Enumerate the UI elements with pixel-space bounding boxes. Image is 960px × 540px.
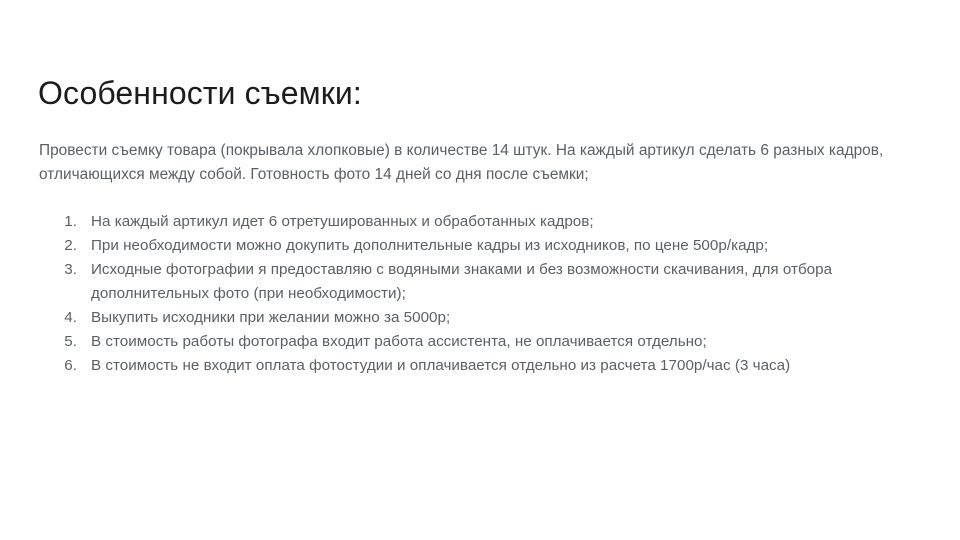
list-item-text: В стоимость не входит оплата фотостудии … xyxy=(77,354,881,378)
list-item-text: Выкупить исходники при желании можно за … xyxy=(77,306,901,330)
list-item: 2. При необходимости можно докупить допо… xyxy=(39,234,923,258)
list-item: 3. Исходные фотографии я предоставляю с … xyxy=(39,258,923,306)
list-item: 4. Выкупить исходники при желании можно … xyxy=(39,306,923,330)
list-item-marker: 4. xyxy=(39,306,77,330)
intro-paragraph: Провести съемку товара (покрывала хлопко… xyxy=(39,139,923,187)
presentation-slide: Особенности съемки: Провести съемку това… xyxy=(0,0,960,540)
list-item-marker: 2. xyxy=(39,234,77,258)
list-item-text: При необходимости можно докупить дополни… xyxy=(77,234,881,258)
list-item: 1. На каждый артикул идет 6 отретуширова… xyxy=(39,210,923,234)
list-item-marker: 5. xyxy=(39,330,77,354)
list-item-marker: 1. xyxy=(39,210,77,234)
list-item-marker: 6. xyxy=(39,354,77,378)
list-item-text: В стоимость работы фотографа входит рабо… xyxy=(77,330,921,354)
list-item-text: На каждый артикул идет 6 отретушированны… xyxy=(77,210,901,234)
page-title: Особенности съемки: xyxy=(38,73,898,113)
list-item-text: Исходные фотографии я предоставляю с вод… xyxy=(77,258,881,306)
list-item-marker: 3. xyxy=(39,258,77,282)
list-item: 5. В стоимость работы фотографа входит р… xyxy=(39,330,923,354)
terms-numbered-list: 1. На каждый артикул идет 6 отретуширова… xyxy=(39,210,923,378)
list-item: 6. В стоимость не входит оплата фотостуд… xyxy=(39,354,923,378)
